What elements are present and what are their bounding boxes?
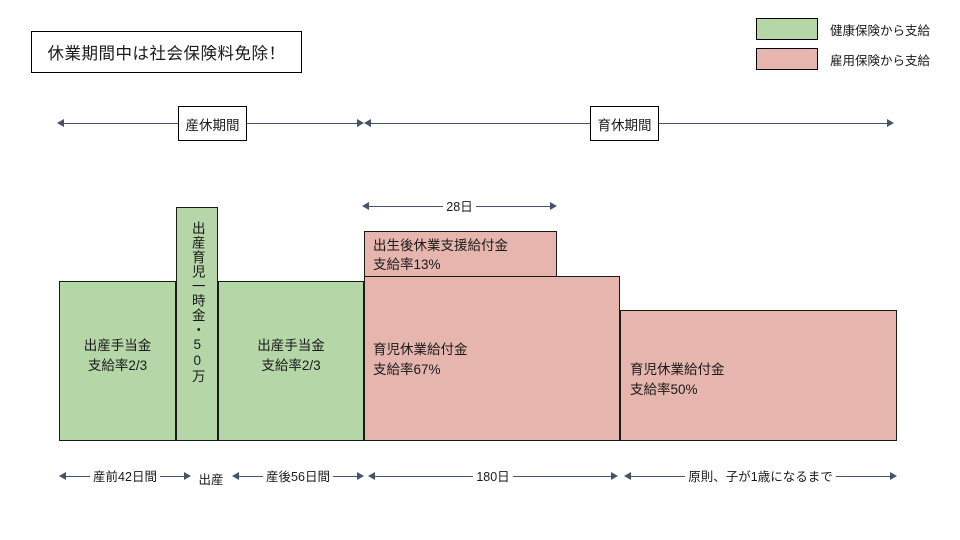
dimension-28days-label: 28日 <box>443 196 475 215</box>
dimension-until-age-one-arrow-right <box>890 472 897 480</box>
legend-swatch-pink <box>756 48 818 70</box>
timeline-segment-right <box>659 123 887 124</box>
bar-label-support-line1: 出生後休業支援給付金 <box>373 236 508 256</box>
bar-label-support-line2: 支給率13% <box>373 255 441 275</box>
timeline-mid-arrowhead-right <box>357 119 364 127</box>
bar-label-maternity-after-line1: 出産手当金 <box>218 336 364 356</box>
dimension-until-age-one: 原則、子が1歳になるまで <box>624 469 897 483</box>
bar-label-lump-sum: 出産育児一時金・50万 <box>189 221 205 384</box>
dimension-postnatal-arrow-right <box>357 472 364 480</box>
dimension-postnatal-label: 産後56日間 <box>263 466 333 485</box>
dimension-prenatal-segment-right <box>160 476 184 477</box>
bar-label-childcare50-line2: 支給率50% <box>630 380 698 400</box>
legend-item-health-insurance: 健康保険から支給 <box>756 18 930 40</box>
timeline-right-arrowhead <box>887 119 894 127</box>
dimension-prenatal-arrow-right <box>184 472 191 480</box>
period-box-childcare-leave: 育休期間 <box>590 106 659 141</box>
dimension-childbirth-label: 出産 <box>193 469 229 488</box>
bar-label-maternity-before-line1: 出産手当金 <box>59 336 176 356</box>
legend-item-employment-insurance: 雇用保険から支給 <box>756 48 930 70</box>
bar-label-childcare50-line1: 育児休業給付金 <box>630 360 725 380</box>
legend-label-employment-insurance: 雇用保険から支給 <box>830 50 930 69</box>
period-box-maternity-leave: 産休期間 <box>178 106 247 141</box>
timeline-segment-left <box>63 123 178 124</box>
dimension-until-age-one-arrow-left <box>624 472 631 480</box>
legend-swatch-green <box>756 18 818 40</box>
dimension-28days-arrow-left <box>362 202 369 210</box>
dimension-prenatal-42days: 産前42日間 <box>59 469 191 483</box>
bar-label-childcare67-line1: 育児休業給付金 <box>373 340 468 360</box>
dimension-postnatal-segment-right <box>333 476 357 477</box>
dimension-28days: 28日 <box>362 199 557 213</box>
bar-label-childcare67-line2: 支給率67% <box>373 360 441 380</box>
bar-childbirth-lump-sum: 出産育児一時金・50万 <box>176 207 218 441</box>
dimension-28days-arrow-right <box>550 202 557 210</box>
dimension-28days-segment-left <box>369 206 443 207</box>
bar-label-maternity-after-line2: 支給率2/3 <box>218 356 364 376</box>
page-title: 休業期間中は社会保険料免除！ <box>31 31 302 73</box>
timeline-mid-arrowhead-left <box>364 119 371 127</box>
dimension-prenatal-label: 産前42日間 <box>90 466 160 485</box>
bar-label-maternity-before-line2: 支給率2/3 <box>59 356 176 376</box>
legend-label-health-insurance: 健康保険から支給 <box>830 20 930 39</box>
dimension-prenatal-arrow-left <box>59 472 66 480</box>
dimension-postnatal-segment-left <box>239 476 263 477</box>
dimension-180days-arrow-right <box>611 472 618 480</box>
dimension-postnatal-arrow-left <box>232 472 239 480</box>
dimension-180days-label: 180日 <box>473 466 512 485</box>
dimension-until-age-one-label: 原則、子が1歳になるまで <box>685 466 835 485</box>
timeline-segment-mid-right <box>371 123 590 124</box>
dimension-180days: 180日 <box>368 469 618 483</box>
dimension-prenatal-segment-left <box>66 476 90 477</box>
timeline-segment-mid-left <box>247 123 357 124</box>
dimension-180days-arrow-left <box>368 472 375 480</box>
dimension-28days-segment-right <box>476 206 550 207</box>
dimension-postnatal-56days: 産後56日間 <box>232 469 364 483</box>
maternity-childcare-leave-benefits-diagram: 休業期間中は社会保険料免除！ 健康保険から支給 雇用保険から支給 産休期間 育休… <box>0 0 960 540</box>
dimension-180days-segment-left <box>375 476 473 477</box>
dimension-180days-segment-right <box>513 476 611 477</box>
dimension-until-age-one-segment-right <box>836 476 890 477</box>
dimension-until-age-one-segment-left <box>631 476 685 477</box>
